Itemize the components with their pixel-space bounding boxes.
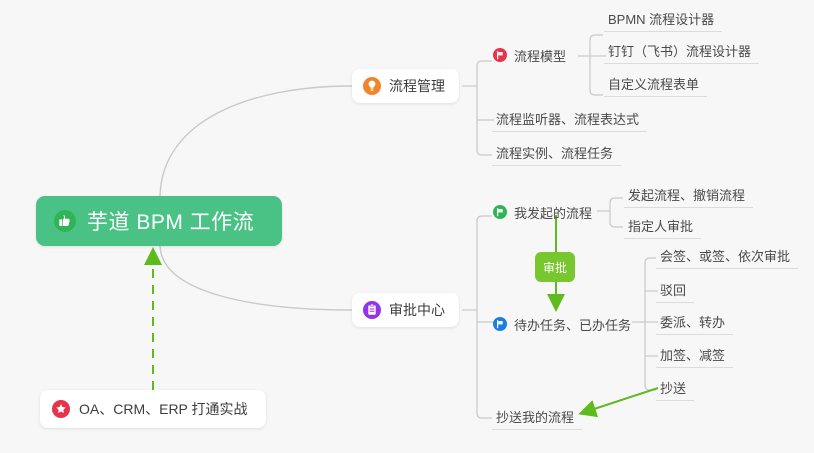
node-label: 我发起的流程	[514, 203, 592, 222]
leaf-node[interactable]: 驳回	[656, 283, 694, 303]
note-label: OA、CRM、ERP 打通实战	[79, 399, 248, 419]
root-label: 芋道 BPM 工作流	[87, 206, 254, 236]
leaf-node[interactable]: 会签、或签、依次审批	[656, 249, 798, 269]
node-process-model[interactable]: 流程模型	[493, 45, 566, 65]
mindmap-canvas: 芋道 BPM 工作流 流程管理 流程模型 BPMN 流程设计器 钉钉（飞书）流程…	[0, 0, 814, 453]
node-label: 流程模型	[514, 46, 566, 65]
flag-icon	[493, 48, 507, 62]
node-todo-done-tasks[interactable]: 待办任务、已办任务	[493, 314, 631, 334]
branch-node-approval-center[interactable]: 审批中心	[352, 293, 459, 327]
node-label: 待办任务、已办任务	[514, 315, 631, 334]
leaf-node[interactable]: 委派、转办	[656, 315, 733, 335]
leaf-node[interactable]: 自定义流程表单	[604, 77, 707, 97]
flag-icon	[493, 205, 507, 219]
branch-node-process-management[interactable]: 流程管理	[352, 69, 459, 103]
leaf-node[interactable]: 抄送我的流程	[492, 410, 582, 430]
leaf-node[interactable]: 指定人审批	[624, 219, 701, 239]
leaf-node[interactable]: 发起流程、撤销流程	[624, 188, 753, 208]
leaf-node[interactable]: 流程监听器、流程表达式	[492, 112, 647, 132]
branch-label: 流程管理	[389, 76, 445, 96]
leaf-node[interactable]: 流程实例、流程任务	[492, 146, 621, 166]
leaf-node[interactable]: 抄送	[656, 381, 694, 401]
thumbs-up-icon	[53, 209, 77, 233]
star-icon	[52, 400, 70, 418]
leaf-node[interactable]: 加签、减签	[656, 348, 733, 368]
root-node[interactable]: 芋道 BPM 工作流	[36, 196, 282, 246]
annotation-badge-label: 审批	[543, 259, 567, 276]
clipboard-icon	[363, 301, 381, 319]
lightbulb-icon	[363, 77, 381, 95]
flag-icon	[493, 317, 507, 331]
branch-label: 审批中心	[389, 300, 445, 320]
leaf-node[interactable]: 钉钉（飞书）流程设计器	[604, 44, 759, 64]
leaf-node[interactable]: BPMN 流程设计器	[604, 12, 722, 32]
annotation-badge: 审批	[535, 252, 575, 282]
node-my-initiated-processes[interactable]: 我发起的流程	[493, 202, 592, 222]
note-node-integration[interactable]: OA、CRM、ERP 打通实战	[40, 390, 266, 428]
